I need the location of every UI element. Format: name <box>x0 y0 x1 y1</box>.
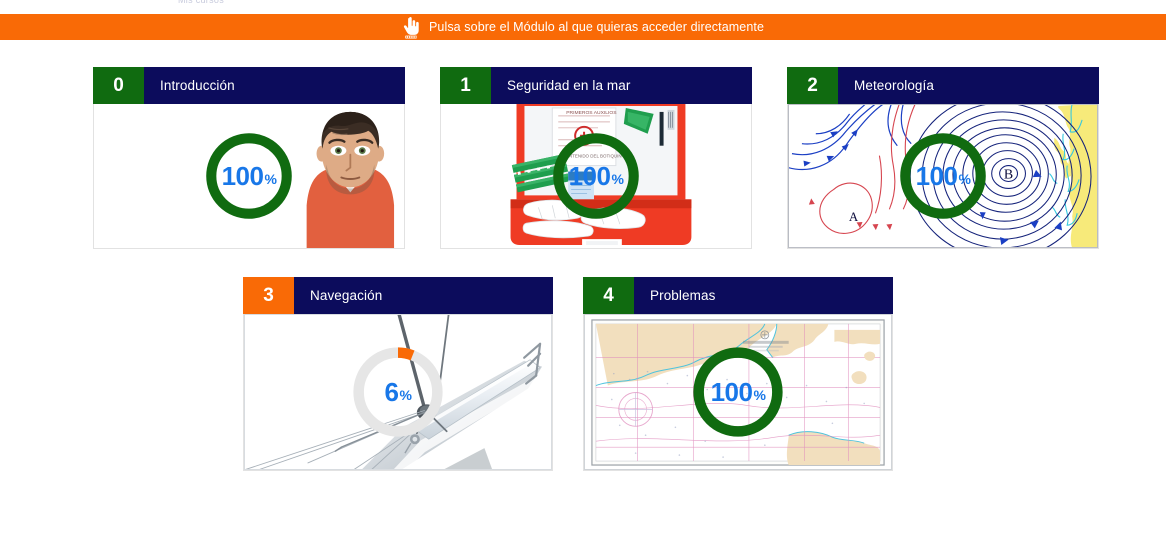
module-card-3-header[interactable]: 3 Navegación <box>243 277 553 314</box>
svg-text:B: B <box>1004 167 1013 182</box>
module-card-2-number: 2 <box>787 67 838 104</box>
module-card-2-body[interactable]: B <box>787 104 1099 249</box>
module-card-4-title: Problemas <box>634 277 893 314</box>
nautical-chart-photo <box>584 314 892 470</box>
module-dashboard: Mis cursos Pulsa sobre el Módulo al que … <box>0 0 1166 544</box>
module-card-1[interactable]: 1 Seguridad en la mar <box>440 67 752 249</box>
module-card-0-body[interactable]: 100 % <box>93 104 405 249</box>
module-card-3-body[interactable]: 6 % <box>243 314 553 471</box>
instruction-banner-text: Pulsa sobre el Módulo al que quieras acc… <box>429 20 764 34</box>
cut-off-top-text: Mis cursos <box>178 0 224 4</box>
synoptic-weather-chart: B <box>788 104 1098 248</box>
module-card-0-title: Introducción <box>144 67 405 104</box>
module-card-3-number: 3 <box>243 277 294 314</box>
svg-text:PRIMEROS AUXILIOS: PRIMEROS AUXILIOS <box>566 110 617 116</box>
instruction-banner: Pulsa sobre el Módulo al que quieras acc… <box>0 14 1166 40</box>
module-card-0[interactable]: 0 Introducción <box>93 67 405 249</box>
module-card-4-header[interactable]: 4 Problemas <box>583 277 893 314</box>
module-card-0-header[interactable]: 0 Introducción <box>93 67 405 104</box>
portrait-instructor-illustration <box>94 104 404 248</box>
module-card-4-body[interactable]: 100 % <box>583 314 893 471</box>
module-card-3[interactable]: 3 Navegación <box>243 277 553 471</box>
module-card-2-title: Meteorología <box>838 67 1099 104</box>
module-card-4[interactable]: 4 Problemas <box>583 277 893 471</box>
module-card-2-header[interactable]: 2 Meteorología <box>787 67 1099 104</box>
sailboat-bowsprit-photo <box>244 314 552 470</box>
svg-text:A: A <box>849 209 859 224</box>
module-card-0-number: 0 <box>93 67 144 104</box>
module-card-1-body[interactable]: PRIMEROS AUXILIOS CONTENIDO DEL BOTIQUIN <box>440 104 752 249</box>
module-card-1-header[interactable]: 1 Seguridad en la mar <box>440 67 752 104</box>
module-card-3-title: Navegación <box>294 277 553 314</box>
module-row-bottom: 3 Navegación <box>243 277 893 471</box>
svg-text:CONTENIDO DEL BOTIQUIN: CONTENIDO DEL BOTIQUIN <box>562 154 621 159</box>
module-row-top: 0 Introducción <box>93 67 1099 249</box>
module-card-1-number: 1 <box>440 67 491 104</box>
module-card-1-title: Seguridad en la mar <box>491 67 752 104</box>
first-aid-kit-photo: PRIMEROS AUXILIOS CONTENIDO DEL BOTIQUIN <box>441 104 751 248</box>
pointing-hand-click-icon <box>402 17 420 39</box>
module-card-4-number: 4 <box>583 277 634 314</box>
module-card-2[interactable]: 2 Meteorología <box>787 67 1099 249</box>
